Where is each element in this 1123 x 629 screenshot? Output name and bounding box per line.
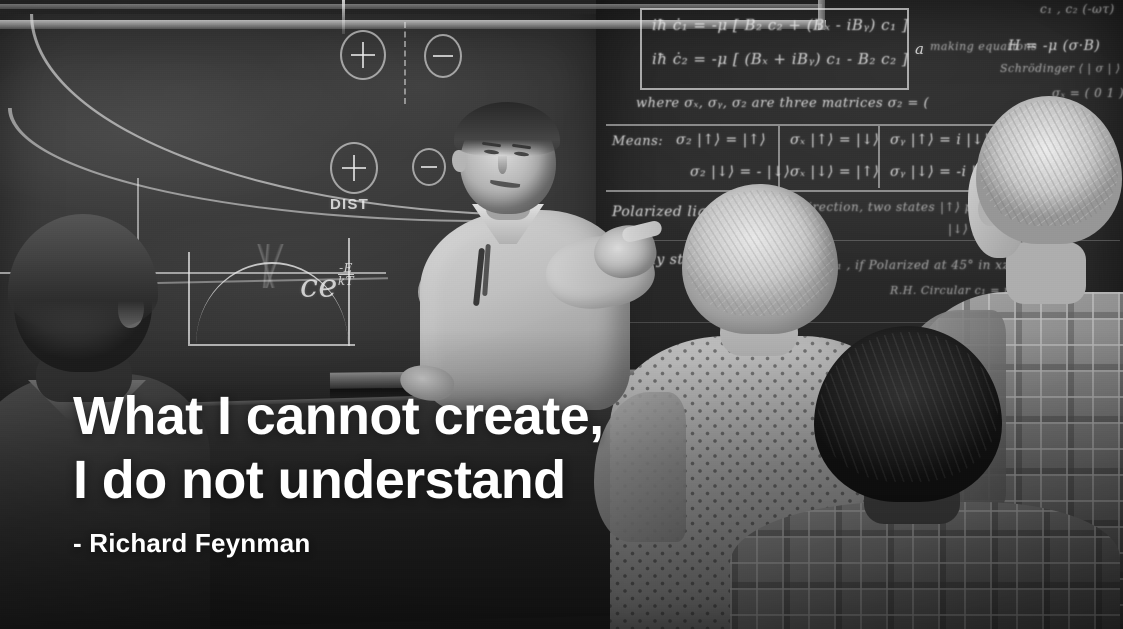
person-dark-haired-student xyxy=(790,326,1090,629)
blackboard-frame-upper-rail xyxy=(0,4,822,9)
quote-line-1: What I cannot create, xyxy=(73,384,773,448)
blackboard-frame-right-edge xyxy=(818,0,825,30)
quote-overlay: What I cannot create, I do not understan… xyxy=(73,384,773,558)
right-student-neck xyxy=(1006,242,1086,304)
left-man-hair xyxy=(8,214,158,330)
feynman-ear xyxy=(452,150,466,172)
chalk-charge-circle xyxy=(340,30,386,80)
chalk-charge-circle xyxy=(424,34,462,78)
chalk-divider-v2 xyxy=(878,126,880,188)
feynman-nose xyxy=(498,156,507,174)
quote-attribution: - Richard Feynman xyxy=(73,528,773,558)
quote-line-2: I do not understand xyxy=(73,448,773,512)
chalk-charge-circle xyxy=(330,142,378,194)
chalk-divider-v1 xyxy=(778,126,780,188)
blackboard-frame-rail xyxy=(0,20,826,29)
feynman-hair xyxy=(454,102,560,156)
person-richard-feynman xyxy=(398,98,660,398)
quote-image: DIST ce-EkT iħ ċ₁ = -μ [ B₂ c₂ + (Bₓ - i… xyxy=(0,0,1123,629)
blackboard-frame-tick xyxy=(342,0,345,34)
